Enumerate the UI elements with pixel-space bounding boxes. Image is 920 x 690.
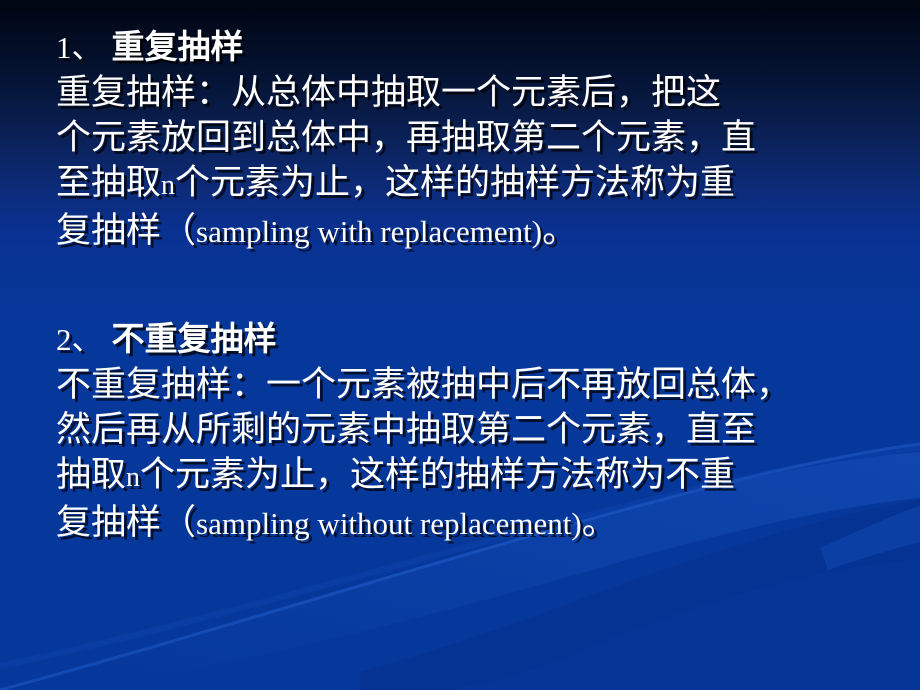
presentation-slide: 1、重复抽样 重复抽样：从总体中抽取一个元素后，把这 个元素放回到总体中，再抽取… — [0, 0, 920, 690]
section-2-line-3: 抽取n个元素为止，这样的抽样方法称为不重 — [56, 452, 906, 500]
section-1: 1、重复抽样 重复抽样：从总体中抽取一个元素后，把这 个元素放回到总体中，再抽取… — [0, 26, 920, 254]
section-2-line-4: 复抽样（sampling without replacement)。 — [56, 500, 906, 546]
section-2-line-1: 不重复抽样：一个元素被抽中后不再放回总体， — [56, 362, 906, 407]
section-1-line-1: 重复抽样：从总体中抽取一个元素后，把这 — [56, 70, 906, 115]
section-2-line-2: 然后再从所剩的元素中抽取第二个元素，直至 — [56, 407, 906, 452]
section-1-line-2: 个元素放回到总体中，再抽取第二个元素，直 — [56, 115, 906, 160]
section-2-title: 不重复抽样 — [103, 322, 277, 358]
section-2-heading: 2、不重复抽样 — [56, 318, 906, 362]
section-1-line-4: 复抽样（sampling with replacement)。 — [56, 208, 906, 254]
section-1-heading: 1、重复抽样 — [56, 26, 906, 70]
section-2-number: 2、 — [56, 322, 103, 357]
section-1-number: 1、 — [56, 30, 103, 65]
section-1-line-3: 至抽取n个元素为止，这样的抽样方法称为重 — [56, 160, 906, 208]
section-1-title: 重复抽样 — [103, 30, 244, 66]
section-2: 2、不重复抽样 不重复抽样：一个元素被抽中后不再放回总体， 然后再从所剩的元素中… — [0, 318, 920, 546]
